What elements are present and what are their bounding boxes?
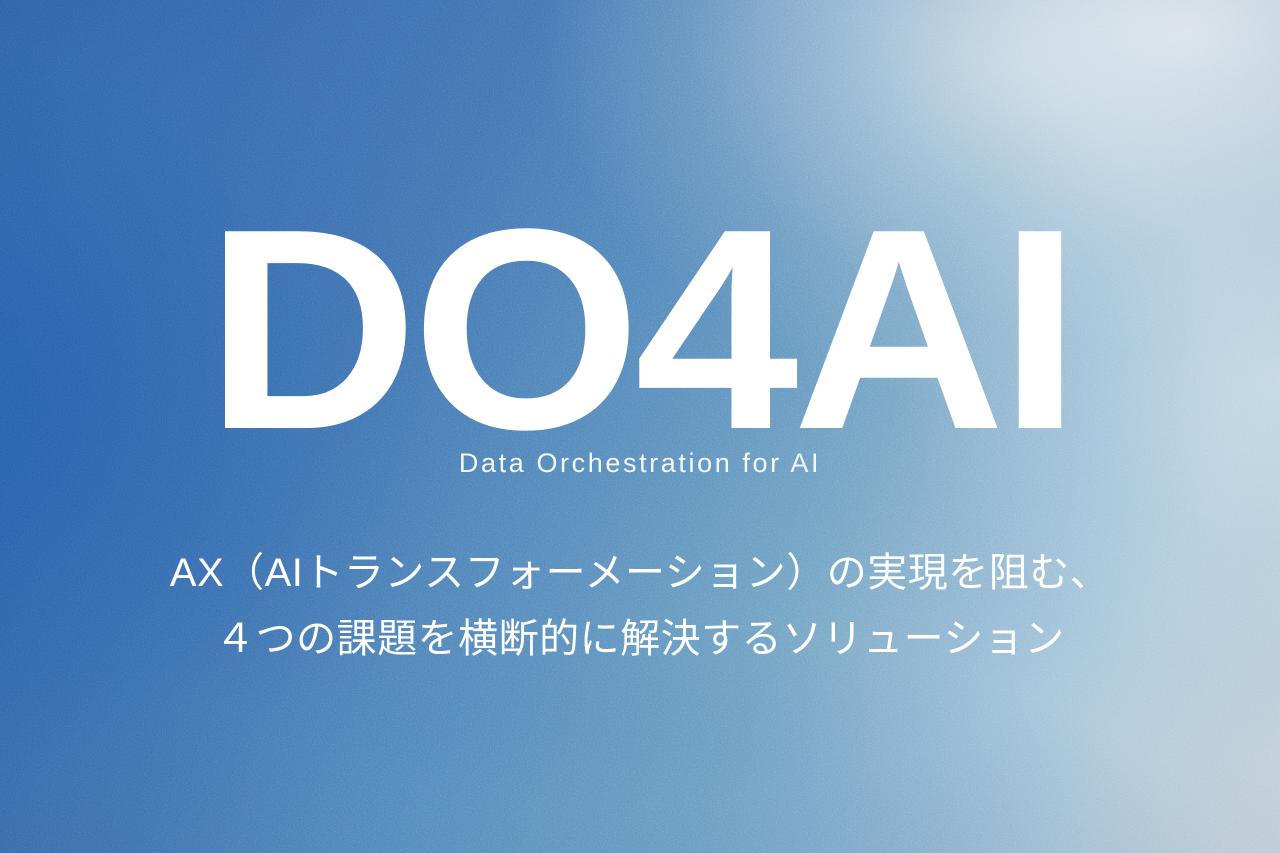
hero-banner: DO4AI Data Orchestration for AI AX（AIトラン… — [0, 0, 1280, 853]
hero-subtitle: AX（AIトランスフォーメーション）の実現を阻む、 ４つの課題を横断的に解決する… — [0, 540, 1280, 672]
hero-subtitle-line-1: AX（AIトランスフォーメーション）の実現を阻む、 — [0, 540, 1280, 606]
logo-tagline: Data Orchestration for AI — [0, 450, 1280, 477]
hero-content: DO4AI Data Orchestration for AI AX（AIトラン… — [0, 0, 1280, 853]
logo-wordmark: DO4AI — [0, 186, 1280, 472]
hero-subtitle-line-2: ４つの課題を横断的に解決するソリューション — [0, 606, 1280, 672]
